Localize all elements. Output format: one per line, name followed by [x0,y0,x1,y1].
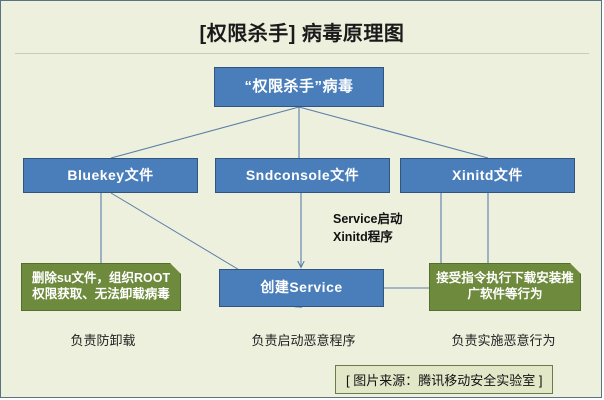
caption-execute-malice: 负责实施恶意行为 [416,330,591,349]
caption-launch-malware: 负责启动恶意程序 [211,330,396,349]
annotation-line-1: Service启动 [333,211,453,229]
caption-anti-uninstall: 负责防卸载 [23,330,183,349]
source-credit: [ 图片来源：腾讯移动安全实验室 ] [335,365,553,394]
node-create-service[interactable]: 创建Service [219,269,384,307]
page-title: [权限杀手] 病毒原理图 [1,17,602,46]
annotation-service-start: Service启动 Xinitd程序 [333,211,453,246]
node-bluekey-file[interactable]: Bluekey文件 [23,158,198,193]
node-virus-root[interactable]: “权限杀手”病毒 [214,67,384,107]
annotation-line-2: Xinitd程序 [333,229,453,247]
node-sndconsole-file[interactable]: Sndconsole文件 [215,158,390,193]
node-xinitd-file[interactable]: Xinitd文件 [400,158,575,193]
node-anti-uninstall[interactable]: 删除su文件，组织ROOT权限获取、无法卸载病毒 [21,263,181,311]
diagram-canvas: [权限杀手] 病毒原理图 “权限杀手”病毒 Bluekey文件 Sndconso… [0,0,602,398]
node-malicious-behavior[interactable]: 接受指令执行下载安装推广软件等行为 [429,263,581,311]
title-divider [15,53,589,54]
